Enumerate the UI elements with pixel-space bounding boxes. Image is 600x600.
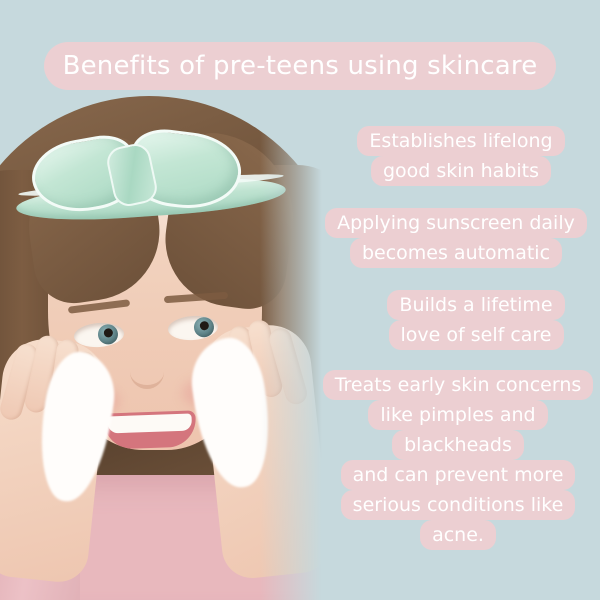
benefit-line: serious conditions like <box>341 490 576 520</box>
benefit-line: becomes automatic <box>350 238 562 268</box>
benefit-line: Builds a lifetime <box>387 290 564 320</box>
skincare-benefits-poster: Benefits of pre-teens using skincare Est… <box>0 0 600 600</box>
benefit-block-1: Establishes lifelong good skin habits <box>330 126 592 186</box>
benefit-line: like pimples and <box>368 400 547 430</box>
nose <box>130 355 164 389</box>
benefit-line: acne. <box>420 520 496 550</box>
title-pill: Benefits of pre-teens using skincare <box>44 42 556 90</box>
benefit-block-4: Treats early skin concerns like pimples … <box>322 370 594 550</box>
photo-edge-fade <box>260 0 330 600</box>
teeth <box>108 414 193 434</box>
benefit-line: Establishes lifelong <box>357 126 564 156</box>
benefit-line: Treats early skin concerns <box>323 370 594 400</box>
benefit-line: Applying sunscreen daily <box>325 208 587 238</box>
benefit-line: good skin habits <box>371 156 551 186</box>
benefit-line: and can prevent more <box>341 460 576 490</box>
girl-skincare-photo <box>0 0 330 600</box>
page-title: Benefits of pre-teens using skincare <box>63 51 538 81</box>
benefit-block-3: Builds a lifetime love of self care <box>360 290 592 350</box>
benefit-line: blackheads <box>392 430 524 460</box>
benefit-line: love of self care <box>389 320 564 350</box>
benefit-block-2: Applying sunscreen daily becomes automat… <box>320 208 592 268</box>
